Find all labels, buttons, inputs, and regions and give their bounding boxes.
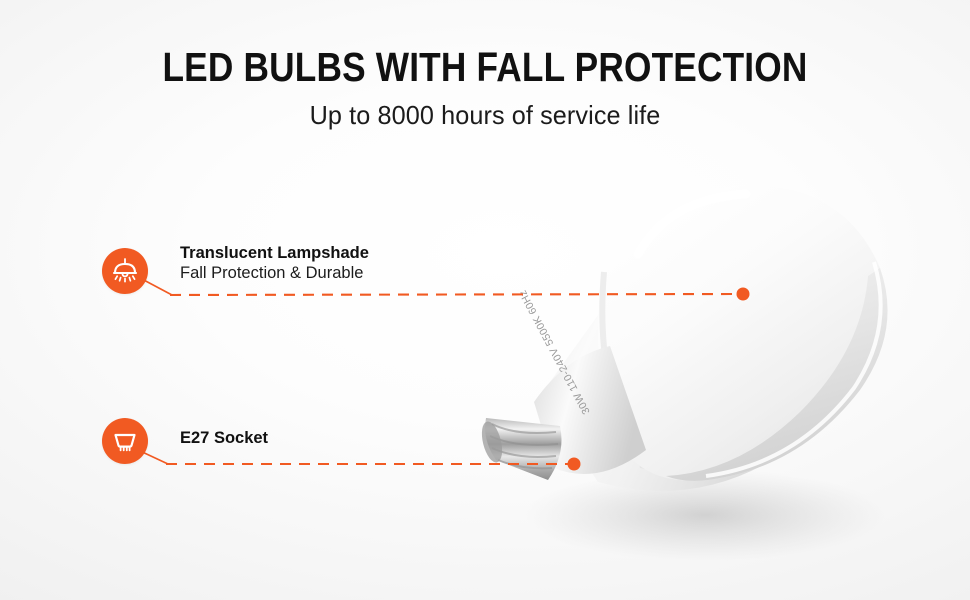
callout-upper-text: Translucent Lampshade Fall Protection & … bbox=[180, 244, 369, 284]
callout-lower-text: E27 Socket bbox=[180, 429, 268, 448]
callout-upper-subtitle: Fall Protection & Durable bbox=[180, 263, 369, 283]
page-subtitle: Up to 8000 hours of service life bbox=[15, 89, 956, 131]
product-image: 30W 110-240V 5500K 60Hz bbox=[470, 150, 920, 570]
header: LED BULBS WITH FALL PROTECTION Up to 800… bbox=[0, 0, 970, 131]
infographic-canvas: LED BULBS WITH FALL PROTECTION Up to 800… bbox=[0, 0, 970, 600]
callout-lower-title: E27 Socket bbox=[180, 429, 268, 448]
lamp-socket-icon bbox=[102, 418, 148, 464]
callout-upper-title: Translucent Lampshade bbox=[180, 244, 369, 263]
led-bulb-illustration: 30W 110-240V 5500K 60Hz bbox=[470, 150, 920, 570]
page-title: LED BULBS WITH FALL PROTECTION bbox=[68, 0, 902, 89]
pendant-lamp-icon bbox=[102, 248, 148, 294]
bulb-e27-base bbox=[478, 418, 561, 480]
